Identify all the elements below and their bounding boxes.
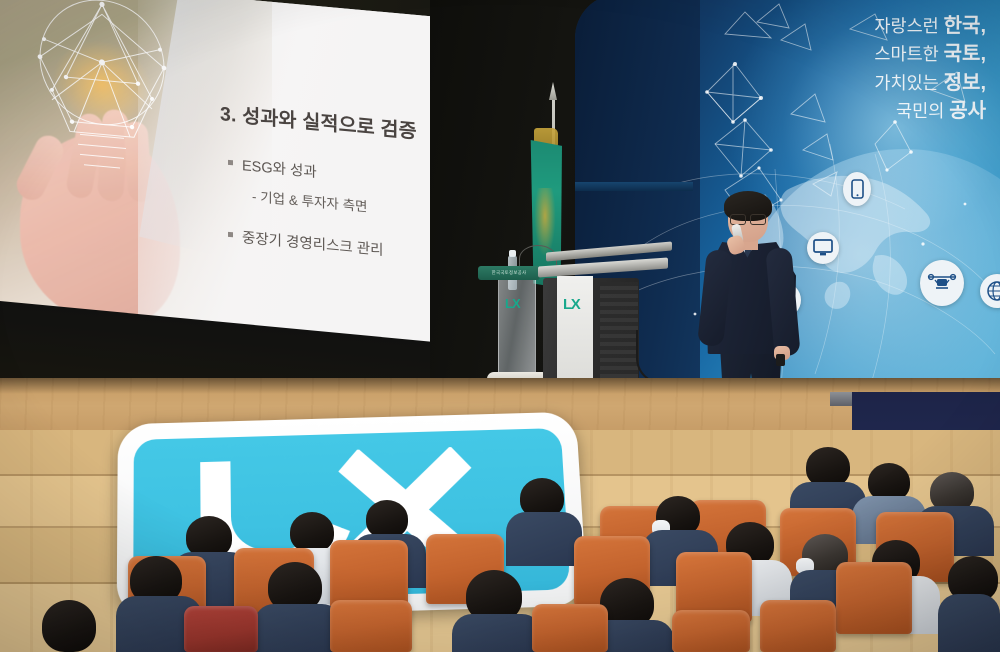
smartphone-icon bbox=[843, 172, 871, 206]
glasses-icon bbox=[730, 214, 766, 223]
bullet-square-icon bbox=[228, 160, 233, 165]
slogan-line-3: 가치있는 정보, bbox=[726, 69, 986, 97]
bullet-square-icon bbox=[228, 232, 233, 237]
audience-body bbox=[938, 594, 1000, 652]
lectern-lx-logo: LX bbox=[563, 296, 579, 313]
backdrop-slogan: 자랑스런 한국, 스마트한 국토, 가치있는 정보, 국민의 공사 bbox=[726, 12, 986, 126]
auditorium-seat bbox=[532, 604, 608, 652]
acrylic-podium bbox=[498, 276, 536, 381]
slogan-line-4: 국민의 공사 bbox=[726, 97, 986, 125]
audience-head bbox=[366, 500, 408, 538]
podium-lx-logo: LX bbox=[505, 296, 520, 311]
audience-head bbox=[290, 512, 334, 552]
audience-head bbox=[806, 447, 850, 487]
auditorium-seat bbox=[330, 600, 412, 652]
slogan-line-2: 스마트한 국토, bbox=[726, 40, 986, 68]
backdrop-ledge bbox=[575, 182, 693, 191]
cable bbox=[636, 330, 684, 384]
auditorium-seat bbox=[672, 610, 750, 652]
speaker bbox=[700, 196, 810, 404]
audience-body bbox=[452, 614, 542, 652]
monitor-icon bbox=[807, 232, 839, 264]
auditorium-seat bbox=[836, 562, 912, 634]
auditorium-photo: 3. 성과와 실적으로 검증 ESG와 성과 - 기업 & 투자자 측면 중장기… bbox=[0, 0, 1000, 652]
podium-nameplate-text: 한국국토정보공사 bbox=[492, 270, 527, 276]
slogan-line-1: 자랑스런 한국, bbox=[726, 12, 986, 40]
auditorium-seat bbox=[760, 600, 836, 652]
auditorium-seat bbox=[184, 606, 258, 652]
audience-body bbox=[506, 512, 582, 566]
lectern-front-panel bbox=[557, 276, 593, 388]
presentation-clicker bbox=[776, 354, 785, 366]
slide-bullet-text: ESG와 성과 bbox=[242, 154, 317, 182]
audience-head bbox=[42, 600, 96, 652]
audience-body bbox=[254, 604, 342, 652]
drone-icon bbox=[920, 260, 964, 306]
lectern-vents bbox=[600, 282, 638, 382]
podium-nameplate: 한국국토정보공사 bbox=[478, 266, 540, 280]
